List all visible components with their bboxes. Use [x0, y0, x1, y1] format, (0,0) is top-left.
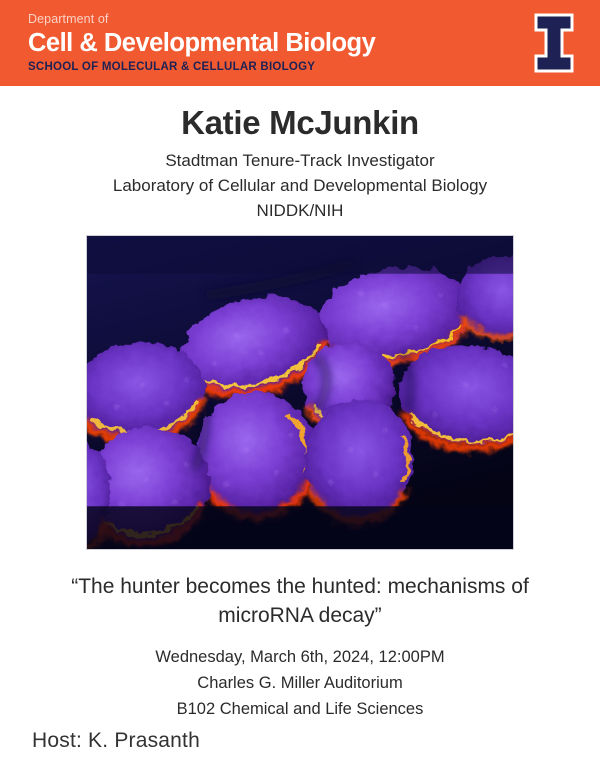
event-room: B102 Chemical and Life Sciences [0, 696, 600, 722]
host-line: Host: K. Prasanth [32, 729, 200, 753]
department-name-title: Cell & Developmental Biology [28, 28, 375, 58]
banner-text-block: Department of Cell & Developmental Biolo… [28, 11, 375, 74]
poster-body: Katie McJunkin Stadtman Tenure-Track Inv… [0, 86, 600, 777]
school-name-subtitle: SCHOOL OF MOLECULAR & CELLULAR BIOLOGY [28, 60, 375, 74]
block-i-illinois-logo-icon [530, 13, 578, 73]
speaker-name-title: Katie McJunkin [0, 102, 600, 144]
event-venue: Charles G. Miller Auditorium [0, 670, 600, 696]
affiliation-line-2: Laboratory of Cellular and Developmental… [0, 173, 600, 198]
talk-title: “The hunter becomes the hunted: mechanis… [45, 572, 555, 630]
affiliation-line-1: Stadtman Tenure-Track Investigator [0, 148, 600, 173]
affiliation-line-3: NIDDK/NIH [0, 198, 600, 223]
micrograph-figure [86, 235, 514, 550]
micrograph-image [87, 236, 513, 549]
department-of-label: Department of [28, 11, 375, 27]
event-datetime: Wednesday, March 6th, 2024, 12:00PM [0, 644, 600, 670]
speaker-affiliation-block: Stadtman Tenure-Track Investigator Labor… [0, 148, 600, 223]
department-header-banner: Department of Cell & Developmental Biolo… [0, 0, 600, 86]
event-details-block: Wednesday, March 6th, 2024, 12:00PM Char… [0, 644, 600, 722]
